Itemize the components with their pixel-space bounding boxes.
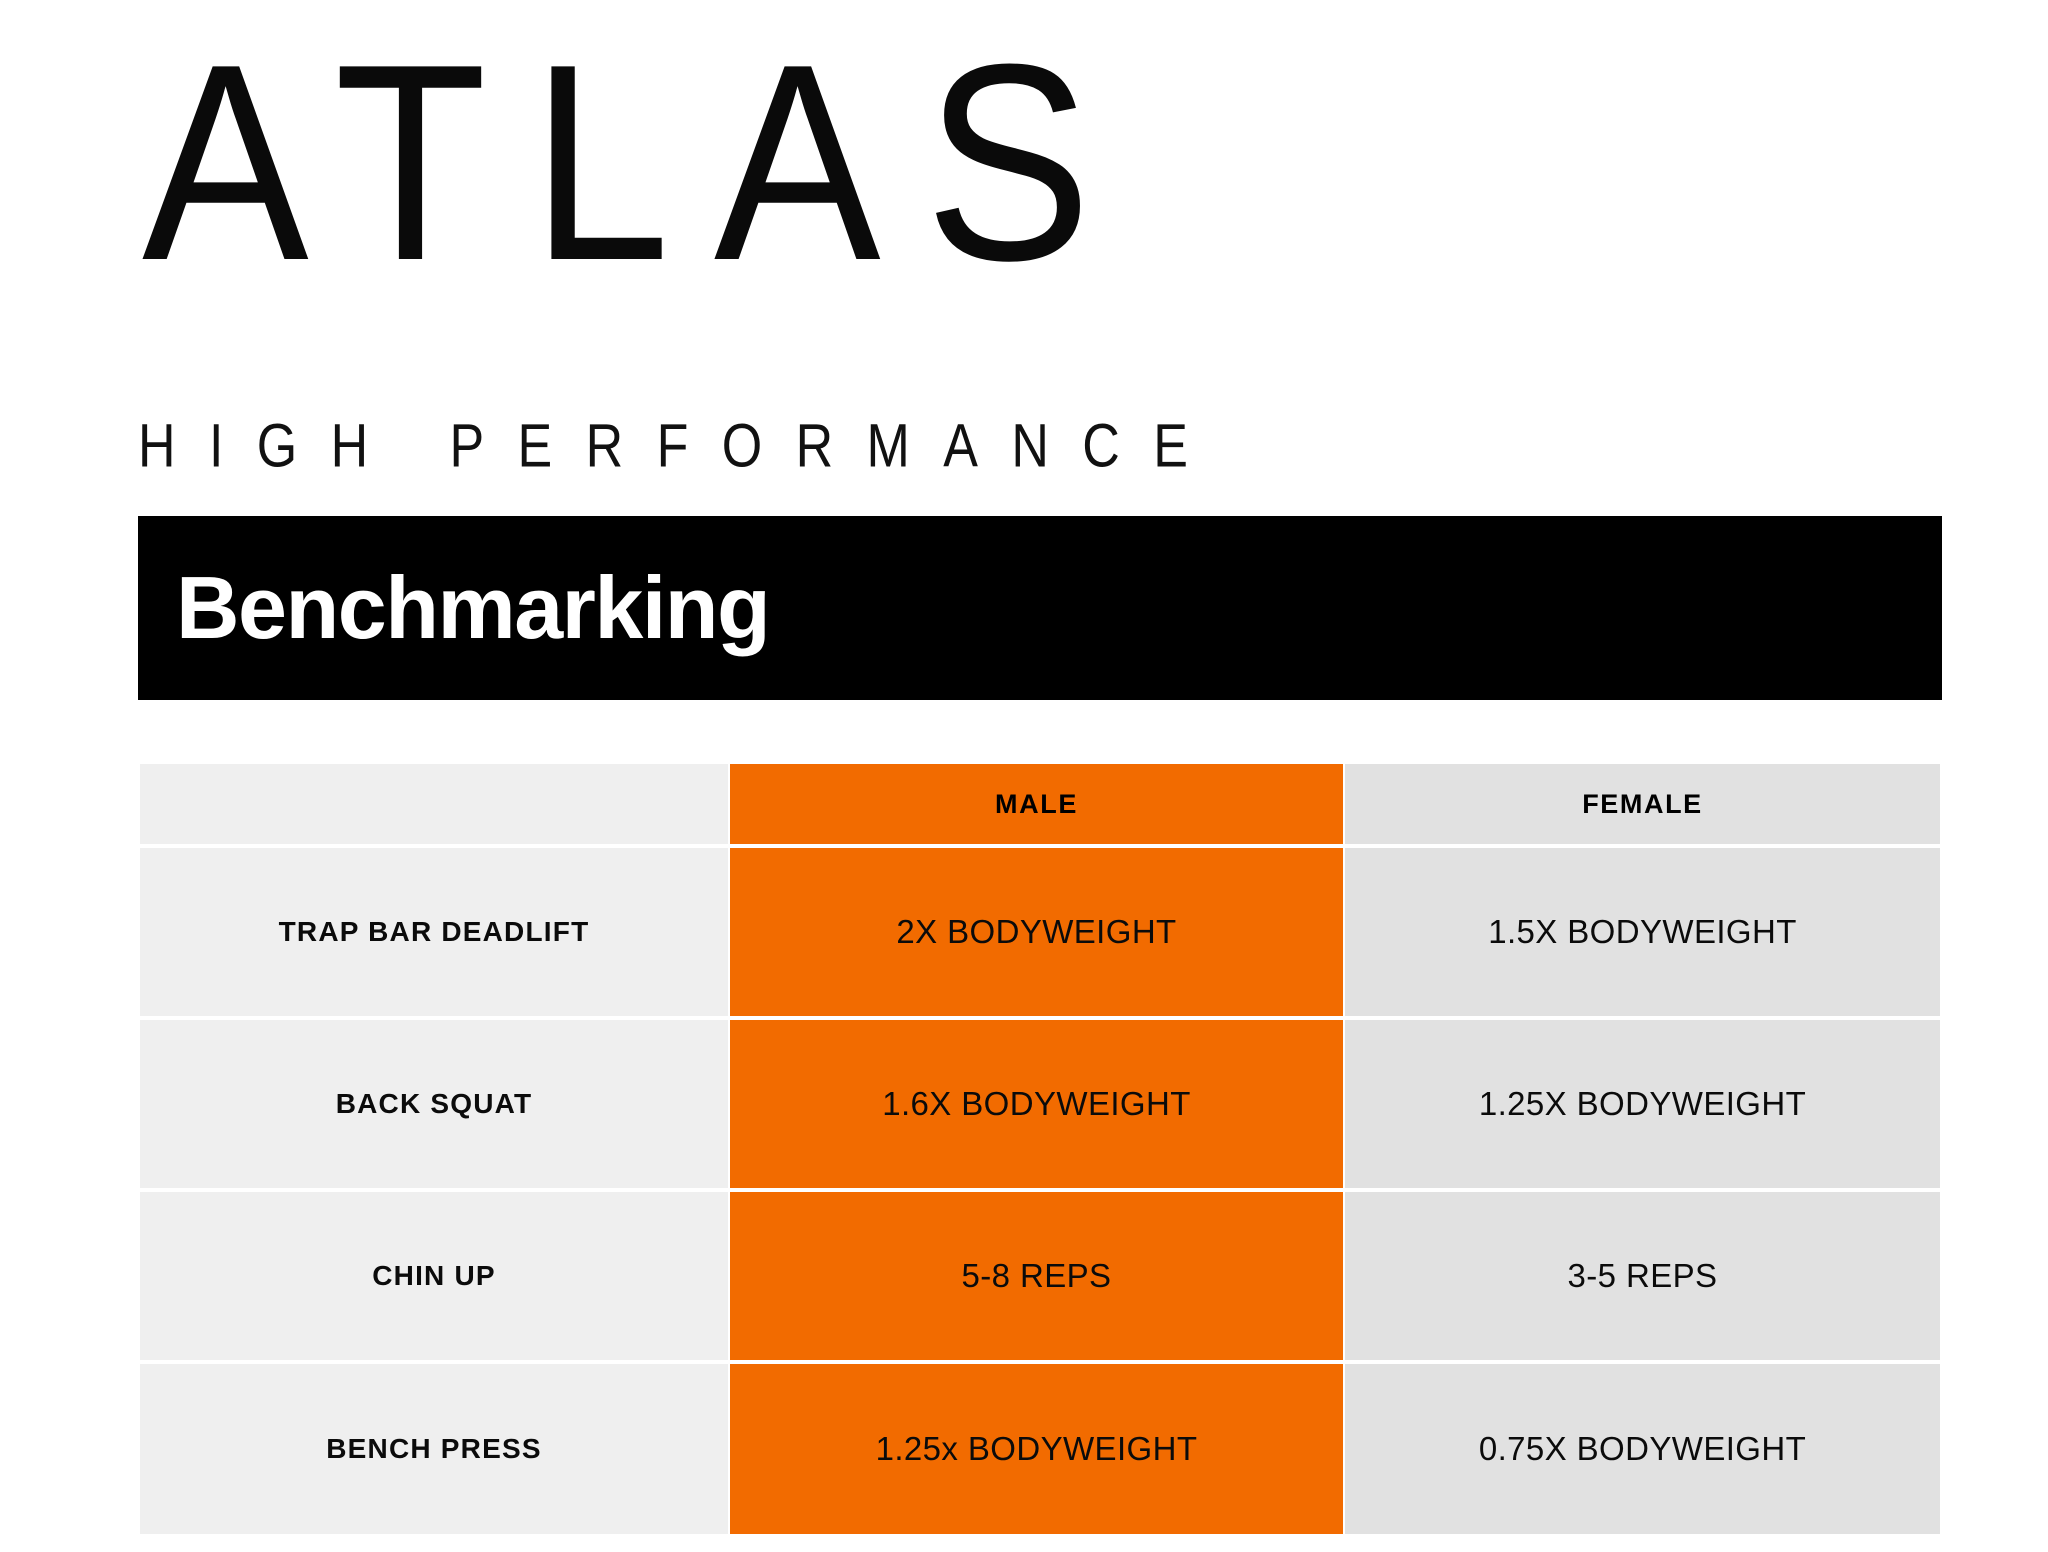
brand-tagline: HIGH PERFORMANCE [138,416,1942,477]
female-standard: 0.75X BODYWEIGHT [1345,1364,1940,1534]
benchmark-table: MALE FEMALE TRAP BAR DEADLIFT 2X BODYWEI… [138,760,1942,1538]
female-standard: 1.5X BODYWEIGHT [1345,848,1940,1016]
male-standard: 1.25x BODYWEIGHT [730,1364,1343,1534]
table-row: TRAP BAR DEADLIFT 2X BODYWEIGHT 1.5X BOD… [140,848,1940,1016]
exercise-name: BENCH PRESS [140,1364,728,1534]
female-standard: 1.25X BODYWEIGHT [1345,1020,1940,1188]
section-title: Benchmarking [176,564,769,652]
section-title-banner: Benchmarking [138,516,1942,700]
male-standard: 1.6X BODYWEIGHT [730,1020,1343,1188]
female-standard: 3-5 REPS [1345,1192,1940,1360]
table-row: CHIN UP 5-8 REPS 3-5 REPS [140,1192,1940,1360]
header-cell-male: MALE [730,764,1343,844]
brand-wordmark: ATLAS [142,16,1942,310]
exercise-name: BACK SQUAT [140,1020,728,1188]
male-standard: 5-8 REPS [730,1192,1343,1360]
table-header-row: MALE FEMALE [140,764,1940,844]
male-standard: 2X BODYWEIGHT [730,848,1343,1016]
exercise-name: CHIN UP [140,1192,728,1360]
header-cell-blank [140,764,728,844]
exercise-name: TRAP BAR DEADLIFT [140,848,728,1016]
table-row: BACK SQUAT 1.6X BODYWEIGHT 1.25X BODYWEI… [140,1020,1940,1188]
brand-block: ATLAS HIGH PERFORMANCE [138,16,1942,279]
benchmarking-page: ATLAS HIGH PERFORMANCE Benchmarking MALE… [0,0,2048,1552]
header-cell-female: FEMALE [1345,764,1940,844]
table-row: BENCH PRESS 1.25x BODYWEIGHT 0.75X BODYW… [140,1364,1940,1534]
